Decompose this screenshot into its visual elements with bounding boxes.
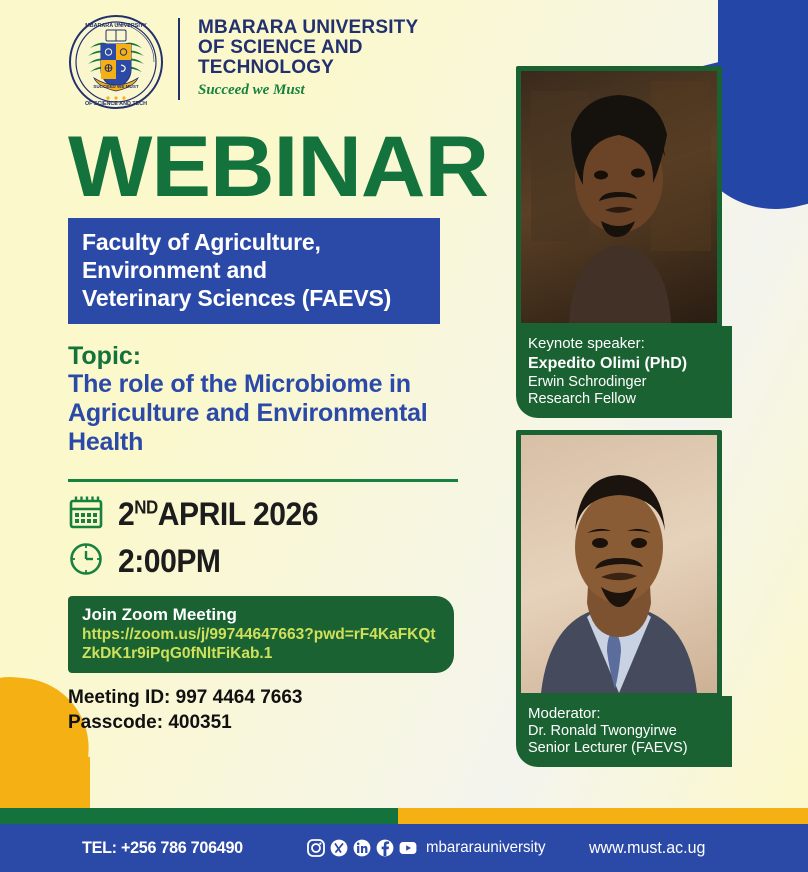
social-links bbox=[307, 839, 417, 857]
faculty-line-1: Faculty of Agriculture, bbox=[82, 228, 428, 256]
meeting-credentials: Meeting ID: 997 4464 7663 Passcode: 4003… bbox=[68, 685, 468, 735]
university-name-block: MBARARA UNIVERSITY OF SCIENCE AND TECHNO… bbox=[198, 14, 418, 99]
moderator-photo bbox=[516, 430, 722, 698]
faculty-line-2: Environment and bbox=[82, 256, 428, 284]
keynote-speaker-photo bbox=[516, 66, 722, 328]
poster-header: MBARARA UNIVERSITY OF SCIENCE AND TECH bbox=[68, 14, 418, 110]
keynote-speaker-caption: Keynote speaker: Expedito Olimi (PhD) Er… bbox=[516, 326, 732, 418]
date-rest: APRIL 2026 bbox=[158, 496, 318, 532]
moderator-caption: Moderator: Dr. Ronald Twongyirwe Senior … bbox=[516, 696, 732, 767]
poster-right-column: Keynote speaker: Expedito Olimi (PhD) Er… bbox=[516, 66, 732, 779]
meeting-id: Meeting ID: 997 4464 7663 bbox=[68, 685, 468, 710]
date-day: 2 bbox=[118, 496, 134, 532]
university-name-line-3: TECHNOLOGY bbox=[198, 58, 418, 78]
keynote-role-label: Keynote speaker: bbox=[528, 334, 722, 353]
instagram-icon[interactable] bbox=[307, 839, 325, 857]
footer-website[interactable]: www.must.ac.ug bbox=[589, 838, 705, 858]
moderator-name: Dr. Ronald Twongyirwe bbox=[528, 723, 722, 740]
keynote-speaker-card: Keynote speaker: Expedito Olimi (PhD) Er… bbox=[516, 66, 732, 418]
clock-icon bbox=[68, 541, 104, 582]
university-motto: Succeed we Must bbox=[198, 82, 418, 99]
footer-telephone: TEL: +256 786 706490 bbox=[82, 838, 243, 858]
moderator-role-label: Moderator: bbox=[528, 704, 722, 723]
moderator-title: Senior Lecturer (FAEVS) bbox=[528, 740, 722, 757]
facebook-icon[interactable] bbox=[376, 839, 394, 857]
svg-text:MBARARA UNIVERSITY: MBARARA UNIVERSITY bbox=[85, 23, 147, 29]
event-date-row: 2NDAPRIL 2026 bbox=[68, 494, 468, 535]
zoom-meeting-box[interactable]: Join Zoom Meeting https://zoom.us/j/9974… bbox=[68, 596, 454, 673]
keynote-name: Expedito Olimi (PhD) bbox=[528, 353, 722, 374]
topic-line-3: Health bbox=[68, 428, 468, 457]
faculty-banner: Faculty of Agriculture, Environment and … bbox=[68, 218, 440, 324]
calendar-icon bbox=[68, 494, 104, 535]
header-divider bbox=[178, 18, 180, 100]
amber-accent-band bbox=[398, 808, 808, 824]
event-time: 2:00PM bbox=[118, 543, 221, 580]
university-name-line-2: OF SCIENCE AND bbox=[198, 38, 418, 58]
topic-label: Topic: bbox=[68, 342, 468, 370]
meeting-passcode: Passcode: 400351 bbox=[68, 710, 468, 735]
faculty-line-3: Veterinary Sciences (FAEVS) bbox=[82, 284, 428, 312]
university-seal-icon: MBARARA UNIVERSITY OF SCIENCE AND TECH bbox=[68, 14, 164, 110]
page-title: WEBINAR bbox=[68, 128, 484, 206]
date-ordinal: ND bbox=[134, 497, 158, 517]
zoom-meeting-link[interactable]: https://zoom.us/j/99744647663?pwd=rF4KaF… bbox=[82, 625, 442, 663]
zoom-join-label: Join Zoom Meeting bbox=[82, 604, 442, 625]
footer-social-handle: mbararauniversity bbox=[426, 839, 546, 857]
poster-footer: TEL: +256 786 706490 bbox=[0, 824, 808, 872]
topic-line-1: The role of the Microbiome in bbox=[68, 370, 468, 399]
keynote-affiliation-line-2: Research Fellow bbox=[528, 391, 722, 408]
topic-line-2: Agriculture and Environmental bbox=[68, 399, 468, 428]
linkedin-icon[interactable] bbox=[353, 839, 371, 857]
keynote-affiliation-line-1: Erwin Schrodinger bbox=[528, 374, 722, 391]
section-divider bbox=[68, 479, 458, 482]
event-date: 2NDAPRIL 2026 bbox=[118, 496, 318, 533]
webinar-poster: MBARARA UNIVERSITY OF SCIENCE AND TECH bbox=[0, 0, 808, 872]
poster-left-column: WEBINAR Faculty of Agriculture, Environm… bbox=[68, 128, 468, 735]
green-accent-band bbox=[0, 808, 398, 824]
moderator-card: Moderator: Dr. Ronald Twongyirwe Senior … bbox=[516, 430, 732, 767]
event-time-row: 2:00PM bbox=[68, 541, 468, 582]
university-name-line-1: MBARARA UNIVERSITY bbox=[198, 18, 418, 38]
svg-text:SUCCEED WE MUST: SUCCEED WE MUST bbox=[93, 84, 139, 89]
svg-text:OF SCIENCE AND TECH: OF SCIENCE AND TECH bbox=[85, 101, 147, 107]
x-twitter-icon[interactable] bbox=[330, 839, 348, 857]
youtube-icon[interactable] bbox=[399, 839, 417, 857]
